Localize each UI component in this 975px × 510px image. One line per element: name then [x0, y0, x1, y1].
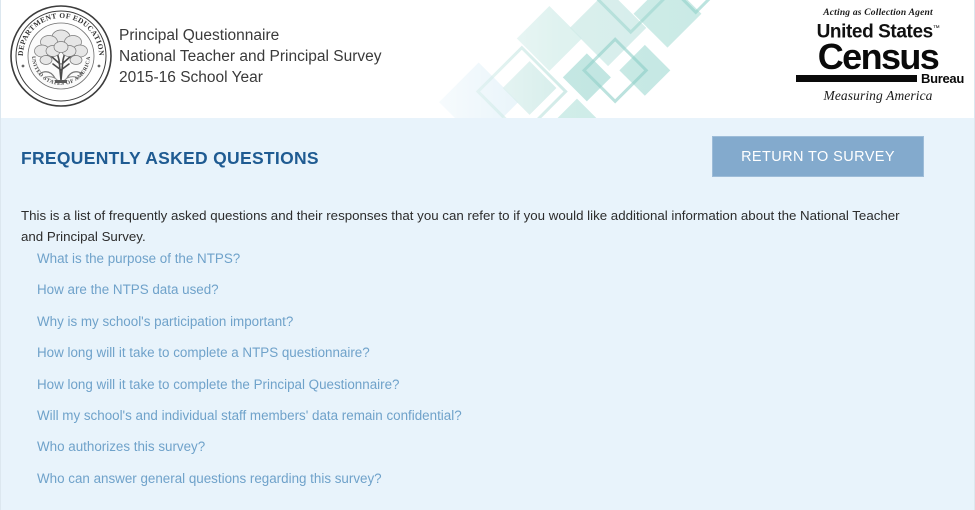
faq-link-general-questions[interactable]: Who can answer general questions regardi… [37, 470, 382, 488]
faq-link-list: What is the purpose of the NTPS? How are… [37, 250, 917, 501]
survey-title-line-1: Principal Questionnaire [119, 25, 382, 46]
census-wordmark: Census [792, 40, 964, 74]
census-tagline: Measuring America [792, 88, 964, 104]
list-item: How long will it take to complete the Pr… [37, 376, 917, 407]
list-item: Why is my school's participation importa… [37, 313, 917, 344]
return-to-survey-button[interactable]: RETURN TO SURVEY [712, 136, 924, 177]
page-title: FREQUENTLY ASKED QUESTIONS [21, 148, 319, 169]
census-rule-bar [796, 75, 917, 82]
faq-link-confidentiality[interactable]: Will my school's and individual staff me… [37, 407, 462, 425]
list-item: Will my school's and individual staff me… [37, 407, 917, 438]
census-bureau-word: Bureau [921, 72, 964, 85]
survey-title-block: Principal Questionnaire National Teacher… [119, 25, 382, 88]
faq-link-participation-important[interactable]: Why is my school's participation importa… [37, 313, 293, 331]
faq-link-authorizes-survey[interactable]: Who authorizes this survey? [37, 438, 205, 456]
faq-link-time-principal-questionnaire[interactable]: How long will it take to complete the Pr… [37, 376, 399, 394]
survey-title-line-3: 2015-16 School Year [119, 67, 382, 88]
faq-link-data-used[interactable]: How are the NTPS data used? [37, 281, 219, 299]
faq-link-time-ntps-questionnaire[interactable]: How long will it take to complete a NTPS… [37, 344, 370, 362]
collection-agent-label: Acting as Collection Agent [792, 8, 964, 18]
list-item: How are the NTPS data used? [37, 281, 917, 312]
census-bureau-logo: Acting as Collection Agent United States… [792, 8, 964, 104]
census-us-word: United States [817, 21, 933, 42]
main-content: FREQUENTLY ASKED QUESTIONS RETURN TO SUR… [1, 118, 974, 509]
census-united-states-text: United States™ [817, 19, 940, 41]
faq-link-purpose[interactable]: What is the purpose of the NTPS? [37, 250, 240, 268]
intro-paragraph: This is a list of frequently asked quest… [21, 205, 911, 247]
list-item: What is the purpose of the NTPS? [37, 250, 917, 281]
faq-page: DEPARTMENT OF EDUCATION UNITED STATES OF… [0, 0, 975, 510]
department-of-education-seal-icon: DEPARTMENT OF EDUCATION UNITED STATES OF… [9, 4, 113, 108]
trademark-symbol: ™ [933, 25, 940, 32]
page-header: DEPARTMENT OF EDUCATION UNITED STATES OF… [1, 0, 974, 118]
list-item: Who can answer general questions regardi… [37, 470, 917, 501]
list-item: Who authorizes this survey? [37, 438, 917, 469]
survey-title-line-2: National Teacher and Principal Survey [119, 46, 382, 67]
list-item: How long will it take to complete a NTPS… [37, 344, 917, 375]
